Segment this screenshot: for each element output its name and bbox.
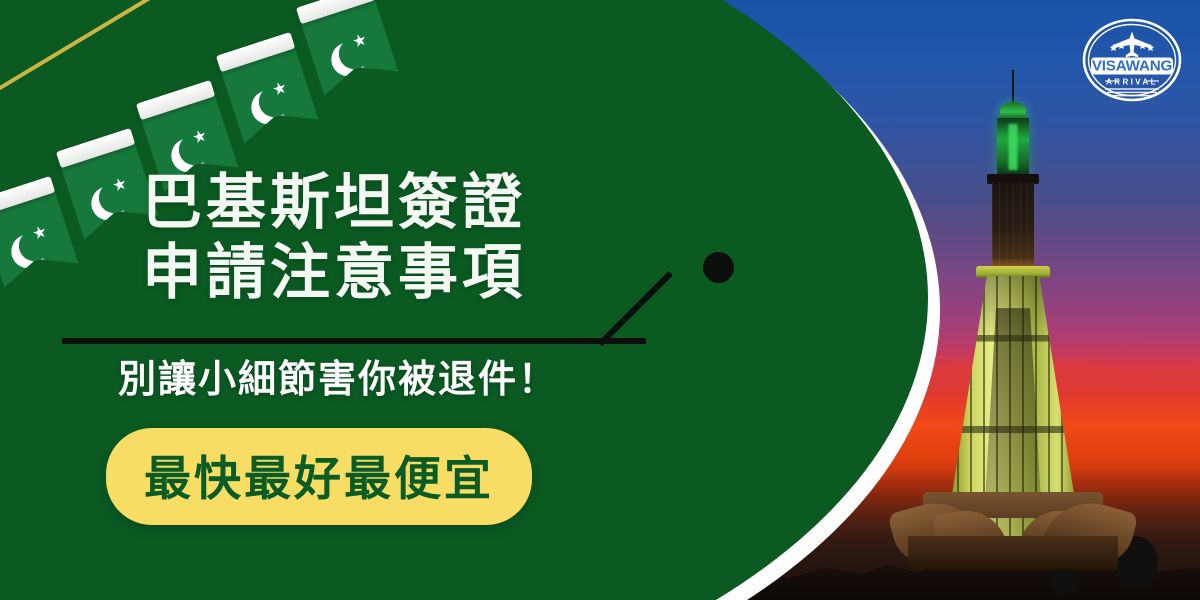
logo-tagline-text: ARRIVAL (1106, 78, 1158, 87)
tower-spire (1012, 70, 1014, 104)
title-line-1: 巴基斯坦簽證 (142, 169, 526, 236)
logo-brand-text: VISAWANG (1092, 58, 1172, 75)
promo-banner: 巴基斯坦簽證申請注意事項 別讓小細節害你被退件！ 最快最好最便宜 V (0, 0, 1200, 600)
subtitle: 別讓小細節害你被退件！ (118, 348, 558, 403)
title-underline-rule (62, 338, 646, 344)
logo-barcode (1105, 89, 1159, 96)
tower-dark-shaft (992, 182, 1034, 268)
title-line-2: 申請注意事項 (142, 239, 526, 306)
tower-green-lantern (997, 118, 1029, 178)
map-pin-dot-icon (703, 252, 734, 283)
headline-block: 巴基斯坦簽證申請注意事項 別讓小細節害你被退件！ 最快最好最便宜 (0, 0, 660, 600)
leader-pointer (600, 240, 760, 360)
page-title: 巴基斯坦簽證申請注意事項 (142, 168, 526, 308)
status-badge[interactable]: 最快最好最便宜 (106, 428, 532, 525)
tower-foundation (908, 536, 1118, 570)
minar-e-pakistan-tower (918, 70, 1108, 570)
visawang-logo[interactable]: VISAWANG ARRIVAL (1080, 14, 1184, 106)
leader-line (598, 271, 673, 346)
airplane-icon (1113, 32, 1152, 58)
